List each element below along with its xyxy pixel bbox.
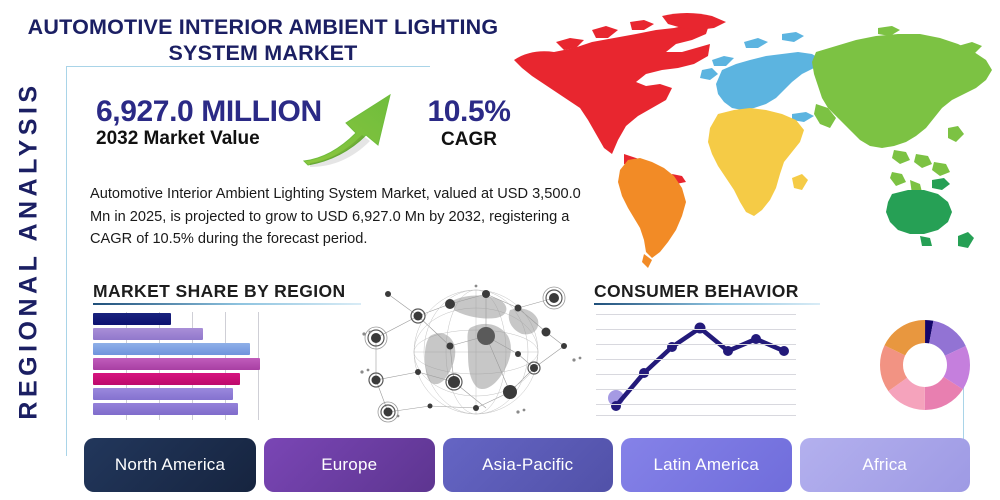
- region-button-group: North America Europe Asia-Pacific Latin …: [84, 438, 970, 492]
- table-row: [93, 328, 203, 340]
- region-button-africa[interactable]: Africa: [800, 438, 971, 492]
- line-chart-gridlines: [596, 310, 796, 418]
- region-button-label: North America: [115, 455, 225, 475]
- market-value-caption: 2032 Market Value: [96, 128, 260, 150]
- side-label-text: REGIONAL ANALYSIS: [15, 81, 44, 419]
- region-button-north-america[interactable]: North America: [84, 438, 256, 492]
- page-title: AUTOMOTIVE INTERIOR AMBIENT LIGHTING SYS…: [18, 14, 508, 66]
- market-share-title-rule: [93, 303, 361, 305]
- table-row: [93, 373, 240, 385]
- table-row: [93, 403, 238, 415]
- global-network-icon: [358, 276, 590, 426]
- table-row: [93, 358, 260, 370]
- table-row: [93, 343, 250, 355]
- market-share-section-title: MARKET SHARE BY REGION: [93, 281, 346, 302]
- table-row: [93, 388, 233, 400]
- regional-split-donut-chart: [866, 306, 984, 424]
- region-button-label: Latin America: [653, 455, 759, 475]
- region-button-label: Africa: [862, 455, 907, 475]
- cagr-value: 10.5%: [404, 95, 534, 129]
- region-button-europe[interactable]: Europe: [264, 438, 435, 492]
- table-row: [93, 313, 171, 325]
- growth-arrow-icon: [300, 89, 405, 167]
- region-button-label: Europe: [321, 455, 377, 475]
- regional-analysis-side-label: REGIONAL ANALYSIS: [0, 0, 58, 500]
- market-value: 6,927.0 MILLION: [96, 95, 322, 129]
- kpi-block: 6,927.0 MILLION 2032 Market Value 10.5% …: [88, 95, 508, 165]
- consumer-behavior-title-rule: [594, 303, 820, 305]
- cagr-caption: CAGR: [404, 129, 534, 151]
- infographic-root: REGIONAL ANALYSIS AUTOMOTIVE INTERIOR AM…: [0, 0, 1000, 500]
- region-button-latin-america[interactable]: Latin America: [621, 438, 792, 492]
- consumer-behavior-section-title: CONSUMER BEHAVIOR: [594, 281, 799, 302]
- region-button-label: Asia-Pacific: [482, 455, 573, 475]
- market-share-bar-chart: [93, 312, 293, 420]
- market-description: Automotive Interior Ambient Lighting Sys…: [90, 183, 595, 251]
- consumer-behavior-line-chart: [596, 310, 796, 418]
- region-button-asia-pacific[interactable]: Asia-Pacific: [443, 438, 614, 492]
